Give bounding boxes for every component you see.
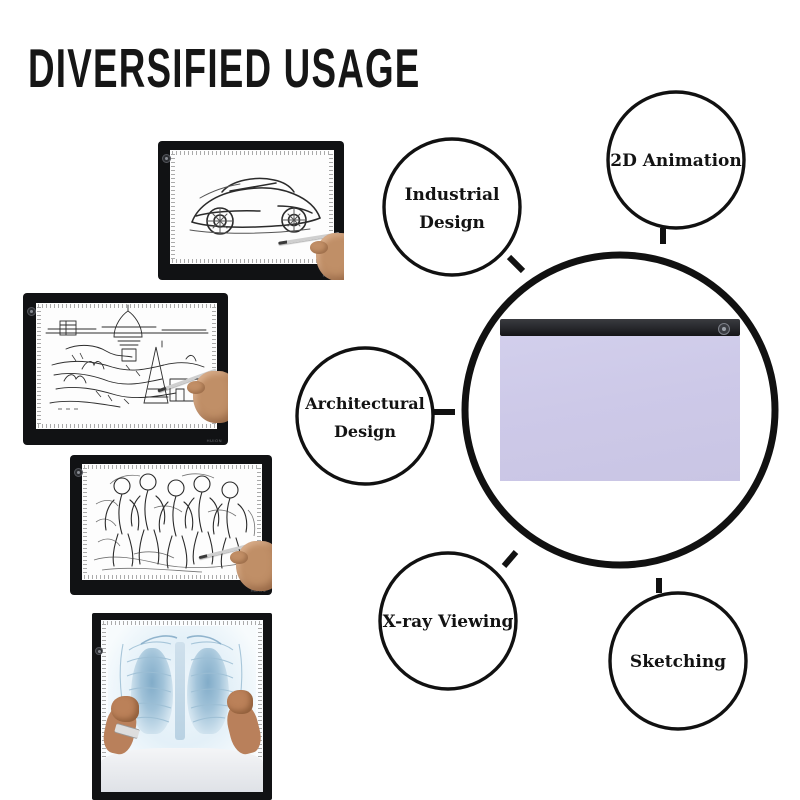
bubble-2d-animation: 2D Animation: [608, 92, 744, 228]
bubble-architectural-design: Architectural Design: [297, 348, 433, 484]
bubble-circle-industrial-design[interactable]: [384, 139, 520, 275]
bubble-label-industrial-design-line2: Design: [419, 213, 485, 233]
bubble-label-architectural-design-line1: Architectural: [304, 394, 425, 413]
bubble-label-industrial-design-line1: Industrial: [405, 185, 500, 205]
bubble-sketching: Sketching: [610, 593, 746, 729]
connector-x-ray-viewing: [504, 552, 516, 566]
bubble-label-sketching: Sketching: [630, 652, 726, 672]
bubble-industrial-design: Industrial Design: [384, 139, 520, 275]
connector-industrial-design: [509, 257, 523, 271]
main-circle: [465, 255, 775, 565]
bubble-label-architectural-design-line2: Design: [334, 422, 396, 441]
bubble-x-ray-viewing: X-ray Viewing: [380, 553, 516, 689]
poster-canvas: DIVERSIFIED USAGE: [0, 0, 800, 800]
bubble-label-x-ray-viewing: X-ray Viewing: [383, 612, 514, 632]
bubble-circle-architectural-design[interactable]: [297, 348, 433, 484]
bubble-label-2d-animation: 2D Animation: [610, 151, 742, 171]
usage-diagram: Industrial Design 2D Animation Architect…: [0, 0, 800, 800]
